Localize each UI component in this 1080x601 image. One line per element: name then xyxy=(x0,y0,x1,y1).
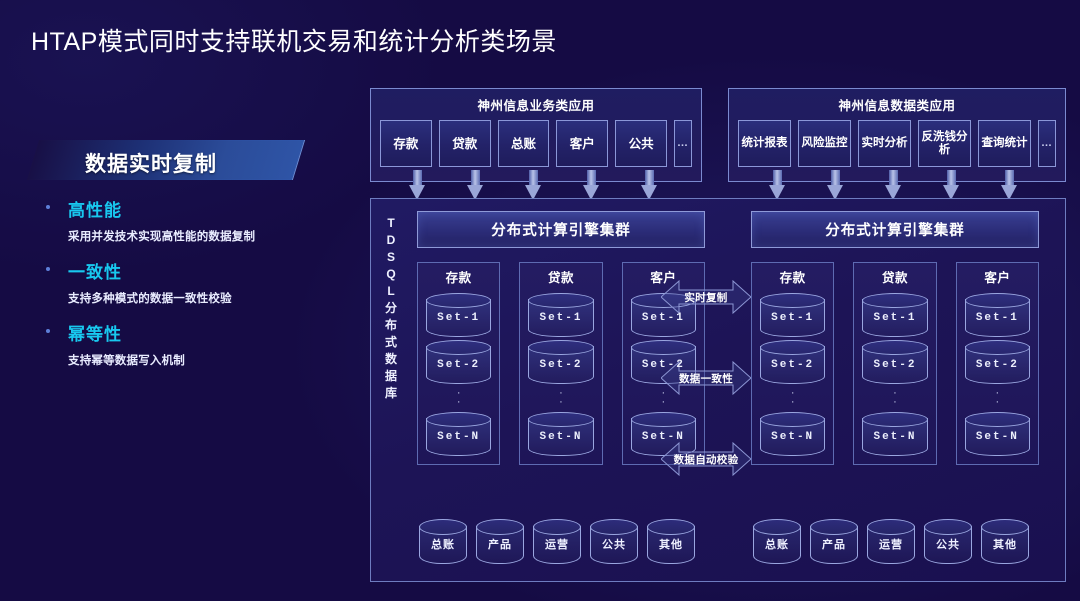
tdsql-vertical-label: T D S Q L 分 布 式 数 据 库 xyxy=(379,215,403,402)
app-cell: 客户 xyxy=(556,120,608,167)
set-label: Set-1 xyxy=(873,312,916,324)
bottom-cylinder-label: 公共 xyxy=(590,536,638,552)
set-label: Set-2 xyxy=(437,359,480,371)
vlabel-char: Q xyxy=(379,266,403,283)
vlabel-char: T xyxy=(379,215,403,232)
set-label: Set-N xyxy=(873,431,916,443)
set-column-title: 存款 xyxy=(446,267,472,286)
set-label: Set-1 xyxy=(539,312,582,324)
bullet-icon xyxy=(46,205,50,209)
bottom-cylinder-label: 其他 xyxy=(981,536,1029,552)
set-column: 贷款 Set-1 Set-2 ·· Set-N xyxy=(519,262,602,465)
app-cell: 总账 xyxy=(498,120,550,167)
app-cell: 反洗钱分析 xyxy=(918,120,971,167)
set-cylinder: Set-2 xyxy=(526,340,595,384)
feature-title: 一致性 xyxy=(68,258,360,283)
bottom-cylinder-label: 产品 xyxy=(476,536,524,552)
set-label: Set-N xyxy=(437,431,480,443)
app-group-analytics: 神州信息数据类应用 统计报表 风险监控 实时分析 反洗钱分析 查询统计 … xyxy=(728,88,1066,182)
sync-arrow: 实时复制 xyxy=(661,277,751,317)
feature-desc: 支持幂等数据写入机制 xyxy=(68,352,360,368)
set-cylinder: Set-1 xyxy=(526,293,595,337)
set-label: Set-N xyxy=(976,431,1019,443)
set-column: 存款 Set-1 Set-2 ·· Set-N xyxy=(417,262,500,465)
cluster-right: 分布式计算引擎集群 存款 Set-1 Set-2 ·· Set-N 贷款 Set… xyxy=(751,211,1039,465)
ribbon-label: 数据实时复制 xyxy=(85,148,217,178)
bottom-cylinders-right: 总账 产品 运营 公共 其他 xyxy=(753,519,1029,564)
set-label: Set-2 xyxy=(976,359,1019,371)
feature-item-2: 幂等性 支持幂等数据写入机制 xyxy=(46,320,360,368)
ellipsis-dots: ·· xyxy=(791,389,795,407)
vlabel-char: 布 xyxy=(379,317,403,334)
bottom-cylinder-label: 公共 xyxy=(924,536,972,552)
ellipsis-dots: ·· xyxy=(559,389,563,407)
bottom-cylinder: 总账 xyxy=(419,519,467,564)
bottom-cylinder: 运营 xyxy=(533,519,581,564)
set-label: Set-N xyxy=(771,431,814,443)
set-column-title: 客户 xyxy=(984,267,1010,286)
app-cell: 风险监控 xyxy=(798,120,851,167)
flow-arrows-analytics xyxy=(748,170,1038,200)
feature-title: 高性能 xyxy=(68,196,360,221)
down-arrow-icon xyxy=(409,170,426,200)
set-column: 客户 Set-1 Set-2 ·· Set-N xyxy=(956,262,1039,465)
bullet-icon xyxy=(46,329,50,333)
app-cell-row: 存款 贷款 总账 客户 公共 … xyxy=(371,114,701,176)
sync-arrow-label: 实时复制 xyxy=(661,290,751,305)
set-label: Set-2 xyxy=(539,359,582,371)
compute-engine-cluster: 分布式计算引擎集群 xyxy=(417,211,705,248)
set-label: Set-1 xyxy=(642,312,685,324)
app-group-business: 神州信息业务类应用 存款 贷款 总账 客户 公共 … xyxy=(370,88,702,182)
set-cylinder: Set-N xyxy=(424,412,493,456)
ellipsis-dots: ·· xyxy=(893,389,897,407)
bullet-icon xyxy=(46,267,50,271)
architecture-diagram: 神州信息业务类应用 存款 贷款 总账 客户 公共 … 神州信息数据类应用 统计报… xyxy=(370,88,1066,588)
bottom-cylinder: 运营 xyxy=(867,519,915,564)
bottom-cylinder-label: 运营 xyxy=(867,536,915,552)
bottom-cylinders-left: 总账 产品 运营 公共 其他 xyxy=(419,519,695,564)
flow-arrows-business xyxy=(388,170,678,200)
app-cell-more: … xyxy=(674,120,692,167)
set-label: Set-2 xyxy=(873,359,916,371)
app-cell: 实时分析 xyxy=(858,120,911,167)
set-column-title: 贷款 xyxy=(548,267,574,286)
vlabel-char: L xyxy=(379,283,403,300)
app-cell: 统计报表 xyxy=(738,120,791,167)
set-label: Set-N xyxy=(642,431,685,443)
app-cell-row: 统计报表 风险监控 实时分析 反洗钱分析 查询统计 … xyxy=(729,114,1065,176)
feature-item-1: 一致性 支持多种模式的数据一致性校验 xyxy=(46,258,360,306)
tdsql-panel: T D S Q L 分 布 式 数 据 库 分布式计算引擎集群 存款 Set-1… xyxy=(370,198,1066,582)
bottom-cylinder: 公共 xyxy=(590,519,638,564)
down-arrow-icon xyxy=(943,170,960,200)
bottom-cylinder: 其他 xyxy=(647,519,695,564)
bottom-cylinder-label: 总账 xyxy=(753,536,801,552)
set-cylinder: Set-2 xyxy=(424,340,493,384)
set-cylinder: Set-2 xyxy=(758,340,827,384)
down-arrow-icon xyxy=(467,170,484,200)
app-cell-label: 反洗钱分析 xyxy=(919,131,970,157)
set-cylinder: Set-N xyxy=(963,412,1032,456)
ellipsis-dots: ·· xyxy=(457,389,461,407)
vlabel-char: 数 xyxy=(379,351,403,368)
bottom-cylinder: 产品 xyxy=(476,519,524,564)
vlabel-char: 据 xyxy=(379,368,403,385)
section-ribbon: 数据实时复制 xyxy=(33,140,298,182)
app-cell: 查询统计 xyxy=(978,120,1031,167)
sync-arrow-label: 数据自动校验 xyxy=(661,452,751,467)
set-column: 贷款 Set-1 Set-2 ·· Set-N xyxy=(853,262,936,465)
bottom-cylinder-label: 其他 xyxy=(647,536,695,552)
sync-arrow-label: 数据一致性 xyxy=(661,371,751,386)
ellipsis-dots: ·· xyxy=(995,389,999,407)
app-cell: 公共 xyxy=(615,120,667,167)
feature-desc: 支持多种模式的数据一致性校验 xyxy=(68,290,360,306)
bottom-cylinder: 总账 xyxy=(753,519,801,564)
app-cell-more: … xyxy=(1038,120,1056,167)
set-cylinder: Set-N xyxy=(526,412,595,456)
set-label: Set-1 xyxy=(771,312,814,324)
app-cell-label: 风险监控 xyxy=(802,137,848,150)
feature-title: 幂等性 xyxy=(68,320,360,345)
set-label: Set-N xyxy=(539,431,582,443)
vlabel-char: D xyxy=(379,232,403,249)
set-column: 存款 Set-1 Set-2 ·· Set-N xyxy=(751,262,834,465)
sync-arrow: 数据自动校验 xyxy=(661,439,751,479)
bottom-cylinder-label: 运营 xyxy=(533,536,581,552)
app-cell-label: 统计报表 xyxy=(742,137,788,150)
set-label: Set-1 xyxy=(976,312,1019,324)
bottom-cylinder: 产品 xyxy=(810,519,858,564)
bottom-cylinder-label: 产品 xyxy=(810,536,858,552)
app-cell: 存款 xyxy=(380,120,432,167)
set-cylinder: Set-1 xyxy=(758,293,827,337)
set-cylinder: Set-N xyxy=(860,412,929,456)
down-arrow-icon xyxy=(769,170,786,200)
app-cell-label: 实时分析 xyxy=(862,137,908,150)
set-cylinder: Set-N xyxy=(758,412,827,456)
down-arrow-icon xyxy=(525,170,542,200)
feature-desc: 采用并发技术实现高性能的数据复制 xyxy=(68,228,360,244)
page-title: HTAP模式同时支持联机交易和统计分析类场景 xyxy=(31,22,557,58)
set-columns: 存款 Set-1 Set-2 ·· Set-N 贷款 Set-1 Set-2 ·… xyxy=(751,262,1039,465)
vlabel-char: 库 xyxy=(379,385,403,402)
bottom-cylinder: 其他 xyxy=(981,519,1029,564)
vlabel-char: 式 xyxy=(379,334,403,351)
set-label: Set-2 xyxy=(771,359,814,371)
down-arrow-icon xyxy=(885,170,902,200)
set-column-title: 存款 xyxy=(780,267,806,286)
set-cylinder: Set-1 xyxy=(963,293,1032,337)
set-label: Set-1 xyxy=(437,312,480,324)
vlabel-char: 分 xyxy=(379,300,403,317)
app-group-title: 神州信息数据类应用 xyxy=(729,95,1065,114)
down-arrow-icon xyxy=(1001,170,1018,200)
vlabel-char: S xyxy=(379,249,403,266)
compute-engine-cluster: 分布式计算引擎集群 xyxy=(751,211,1039,248)
app-cell: 贷款 xyxy=(439,120,491,167)
app-cell-label: 查询统计 xyxy=(982,137,1028,150)
down-arrow-icon xyxy=(827,170,844,200)
set-column-title: 贷款 xyxy=(882,267,908,286)
set-cylinder: Set-2 xyxy=(860,340,929,384)
feature-item-0: 高性能 采用并发技术实现高性能的数据复制 xyxy=(46,196,360,244)
left-feature-panel: 数据实时复制 高性能 采用并发技术实现高性能的数据复制 一致性 支持多种模式的数… xyxy=(0,140,360,368)
app-group-title: 神州信息业务类应用 xyxy=(371,95,701,114)
set-label: Set-2 xyxy=(642,359,685,371)
set-cylinder: Set-1 xyxy=(424,293,493,337)
down-arrow-icon xyxy=(641,170,658,200)
set-cylinder: Set-2 xyxy=(963,340,1032,384)
bottom-cylinder-label: 总账 xyxy=(419,536,467,552)
down-arrow-icon xyxy=(583,170,600,200)
bottom-cylinder: 公共 xyxy=(924,519,972,564)
set-cylinder: Set-1 xyxy=(860,293,929,337)
